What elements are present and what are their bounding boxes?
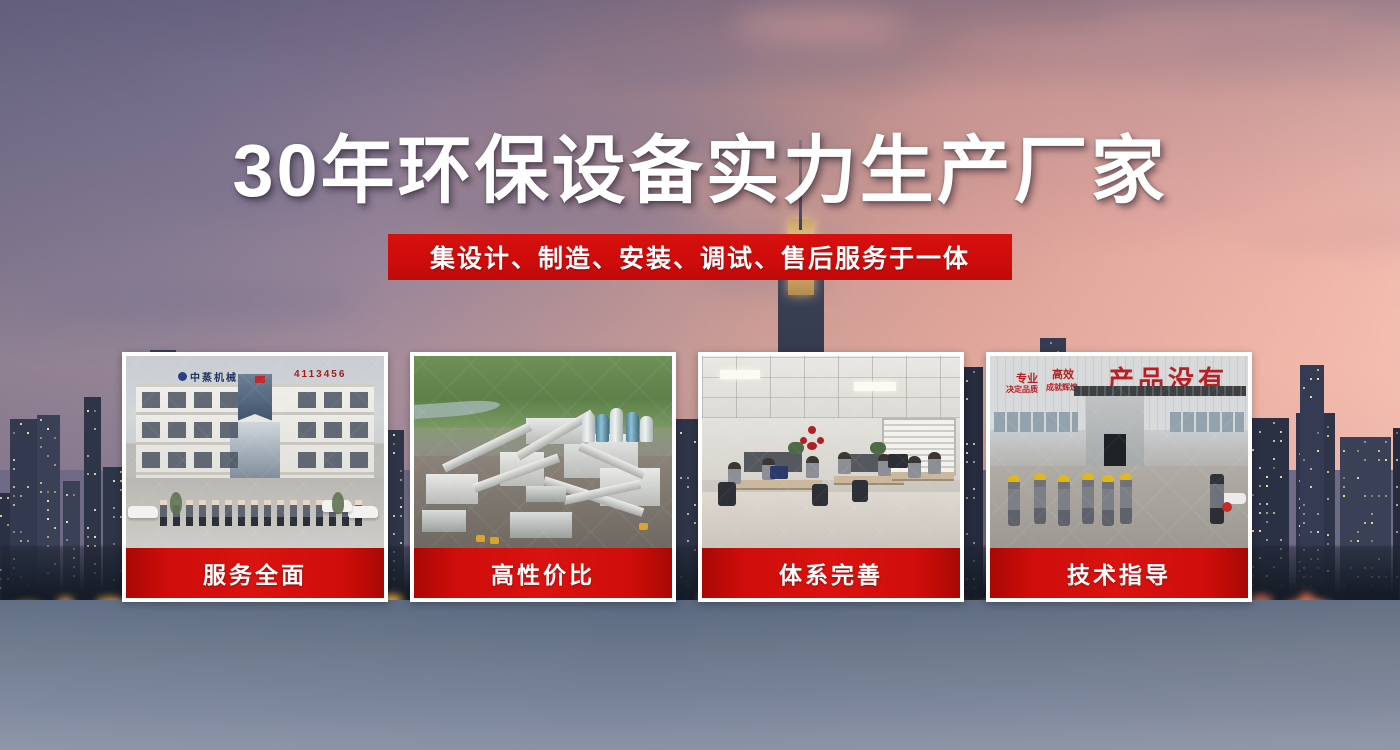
feature-card-guidance[interactable]: 产品没有 专业 高效 决定品质 成就辉煌 技术指导 xyxy=(986,352,1252,602)
watermark-pattern xyxy=(990,356,1248,548)
watermark-pattern xyxy=(126,356,384,548)
subtitle-text: 集设计、制造、安装、调试、售后服务于一体 xyxy=(430,239,970,275)
feature-card-system[interactable]: 体系完善 xyxy=(698,352,964,602)
cloud xyxy=(1093,11,1374,32)
page-title: 30年环保设备实力生产厂家 xyxy=(0,130,1400,212)
card-caption-text: 体系完善 xyxy=(779,556,883,590)
card-caption-text: 技术指导 xyxy=(1067,556,1171,590)
feature-card-value[interactable]: 高性价比 xyxy=(410,352,676,602)
subtitle-bar: 集设计、制造、安装、调试、售后服务于一体 xyxy=(388,234,1012,280)
cloud xyxy=(591,62,740,86)
cloud xyxy=(141,60,308,88)
office-workspace-photo xyxy=(702,356,960,548)
promo-banner: 30年环保设备实力生产厂家 集设计、制造、安装、调试、售后服务于一体 中蒸机械 … xyxy=(0,0,1400,750)
card-caption-bar: 服务全面 xyxy=(126,548,384,598)
card-caption-text: 高性价比 xyxy=(491,556,595,590)
card-caption-bar: 技术指导 xyxy=(990,548,1248,598)
workers-training-photo: 产品没有 专业 高效 决定品质 成就辉煌 xyxy=(990,356,1248,548)
card-caption-bar: 体系完善 xyxy=(702,548,960,598)
card-caption-bar: 高性价比 xyxy=(414,548,672,598)
cloud xyxy=(734,10,905,43)
aerial-production-plant-photo xyxy=(414,356,672,548)
water-reflection xyxy=(0,600,1400,750)
cloud xyxy=(447,42,540,74)
company-office-building-photo: 中蒸机械 4113456 xyxy=(126,356,384,548)
cloud xyxy=(951,33,1209,57)
card-caption-text: 服务全面 xyxy=(203,556,307,590)
feature-card-service[interactable]: 中蒸机械 4113456 服务全面 xyxy=(122,352,388,602)
watermark-pattern xyxy=(414,356,672,548)
watermark-pattern xyxy=(702,356,960,548)
feature-card-list: 中蒸机械 4113456 服务全面 高 xyxy=(122,352,1278,602)
